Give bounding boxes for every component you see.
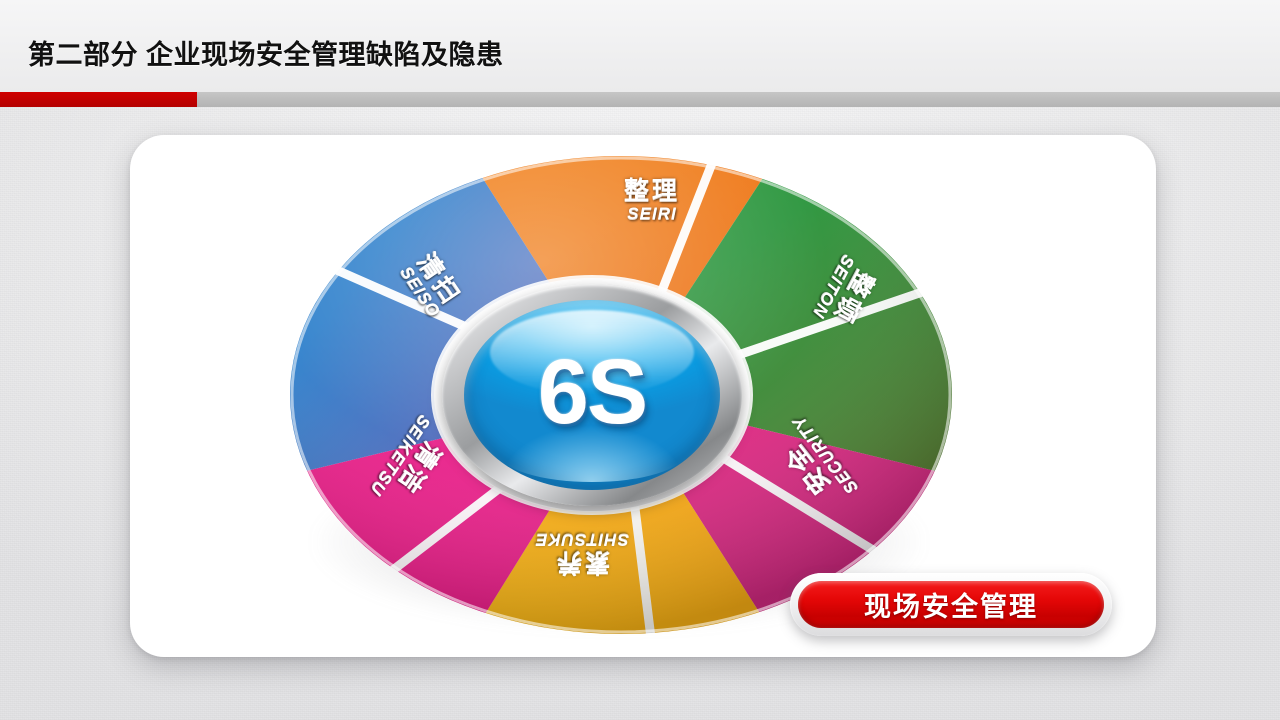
divider-bar-red — [0, 92, 197, 107]
site-safety-badge[interactable]: 现场安全管理 — [790, 573, 1112, 636]
wheel-center-label: 6S — [464, 300, 720, 490]
title-band: 第二部分 企业现场安全管理缺陷及隐患 — [0, 0, 1280, 92]
slide-canvas: 第二部分 企业现场安全管理缺陷及隐患 — [0, 0, 1280, 720]
six-s-wheel-diagram: 整理 SEIRI 整顿 SEITON 安全 SECURITY 素养 SHITSU… — [290, 152, 952, 638]
hub-blue-face: 6S — [464, 300, 720, 490]
divider-bar — [0, 92, 1280, 107]
wheel-center-hub: 6S — [442, 284, 742, 506]
site-safety-badge-label: 现场安全管理 — [864, 585, 1038, 624]
site-safety-badge-inner: 现场安全管理 — [798, 581, 1104, 628]
page-title: 第二部分 企业现场安全管理缺陷及隐患 — [28, 33, 504, 72]
